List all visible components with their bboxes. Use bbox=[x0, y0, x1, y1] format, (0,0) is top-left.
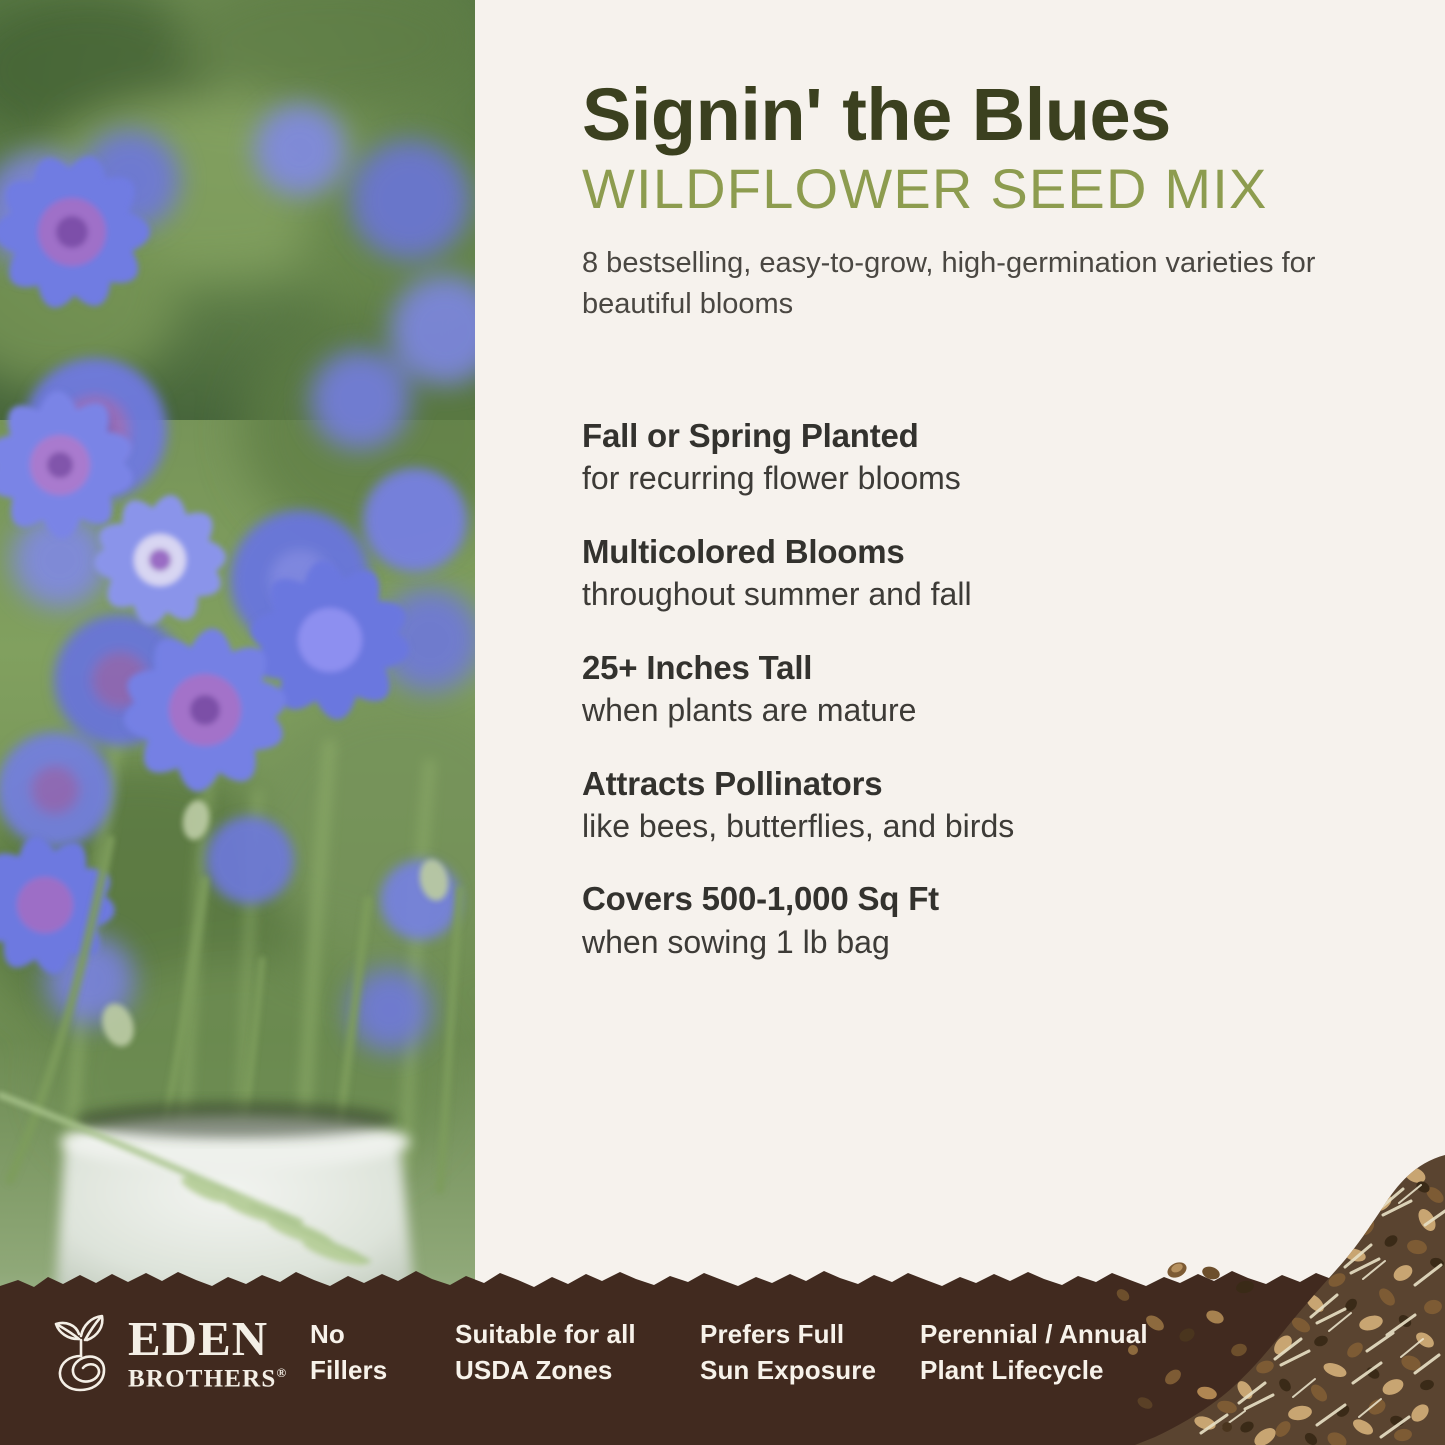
footer-attribute-line2: Fillers bbox=[310, 1353, 455, 1388]
footer-attribute: Prefers Full Sun Exposure bbox=[700, 1317, 920, 1388]
feature-item: 25+ Inches Tall when plants are mature bbox=[582, 647, 1382, 732]
footer-attribute: No Fillers bbox=[310, 1317, 455, 1388]
feature-heading: Covers 500-1,000 Sq Ft bbox=[582, 878, 1382, 919]
footer-attribute-line1: Suitable for all bbox=[455, 1317, 700, 1352]
footer-attribute-columns: No Fillers Suitable for all USDA Zones P… bbox=[310, 1317, 1180, 1388]
content-panel: Signin' the Blues WILDFLOWER SEED MIX 8 … bbox=[475, 0, 1445, 1445]
footer-attribute-line1: Prefers Full bbox=[700, 1317, 920, 1352]
brand-name-secondary: BROTHERS® bbox=[128, 1366, 287, 1391]
sprout-seedling-icon bbox=[48, 1312, 120, 1394]
registered-trademark-icon: ® bbox=[277, 1365, 288, 1380]
page-subtitle: WILDFLOWER SEED MIX bbox=[582, 158, 1432, 221]
tagline: 8 bestselling, easy-to-grow, high-germin… bbox=[582, 243, 1322, 325]
footer-attribute: Perennial / Annual Plant Lifecycle bbox=[920, 1317, 1180, 1388]
feature-item: Covers 500-1,000 Sq Ft when sowing 1 lb … bbox=[582, 878, 1382, 963]
brand-wordmark: EDEN BROTHERS® bbox=[128, 1314, 287, 1391]
title-block: Signin' the Blues WILDFLOWER SEED MIX 8 … bbox=[582, 78, 1432, 325]
footer-attribute-line2: USDA Zones bbox=[455, 1353, 700, 1388]
feature-heading: Attracts Pollinators bbox=[582, 763, 1382, 804]
feature-description: like bees, butterflies, and birds bbox=[582, 806, 1382, 848]
feature-item: Multicolored Blooms throughout summer an… bbox=[582, 531, 1382, 616]
brand-name-primary: EDEN bbox=[128, 1314, 287, 1363]
flower-photo-icon bbox=[0, 0, 475, 1445]
product-infographic: Signin' the Blues WILDFLOWER SEED MIX 8 … bbox=[0, 0, 1445, 1445]
feature-list: Fall or Spring Planted for recurring flo… bbox=[582, 415, 1382, 963]
page-title: Signin' the Blues bbox=[582, 78, 1432, 152]
feature-heading: Fall or Spring Planted bbox=[582, 415, 1382, 456]
feature-description: for recurring flower blooms bbox=[582, 458, 1382, 500]
feature-description: when sowing 1 lb bag bbox=[582, 922, 1382, 964]
feature-description: throughout summer and fall bbox=[582, 574, 1382, 616]
feature-item: Fall or Spring Planted for recurring flo… bbox=[582, 415, 1382, 500]
feature-heading: 25+ Inches Tall bbox=[582, 647, 1382, 688]
footer-content: EDEN BROTHERS® No Fillers Suitable for a… bbox=[0, 1260, 1445, 1445]
brand-logo[interactable]: EDEN BROTHERS® bbox=[48, 1312, 288, 1394]
feature-item: Attracts Pollinators like bees, butterfl… bbox=[582, 763, 1382, 848]
feature-description: when plants are mature bbox=[582, 690, 1382, 732]
footer-attribute: Suitable for all USDA Zones bbox=[455, 1317, 700, 1388]
feature-heading: Multicolored Blooms bbox=[582, 531, 1382, 572]
footer-attribute-line1: Perennial / Annual bbox=[920, 1317, 1180, 1352]
footer-attribute-line2: Sun Exposure bbox=[700, 1353, 920, 1388]
hero-photo bbox=[0, 0, 475, 1445]
footer-bar: EDEN BROTHERS® No Fillers Suitable for a… bbox=[0, 1260, 1445, 1445]
footer-attribute-line1: No bbox=[310, 1317, 455, 1352]
footer-attribute-line2: Plant Lifecycle bbox=[920, 1353, 1180, 1388]
